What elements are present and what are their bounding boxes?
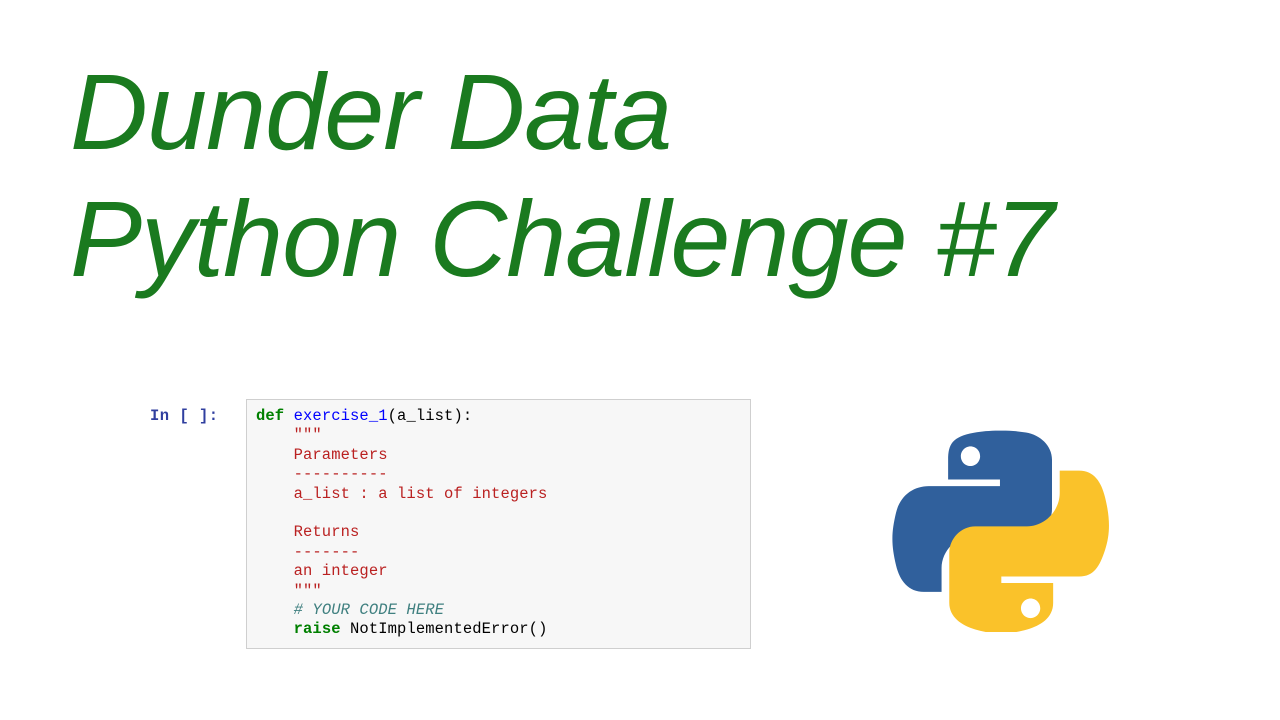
cell-execution-prompt: In [ ]: <box>150 399 246 426</box>
title-line-1: Dunder Data <box>70 48 1210 175</box>
notebook-code-cell[interactable]: In [ ]: def exercise_1(a_list): """ Para… <box>150 399 756 649</box>
title-line-2: Python Challenge #7 <box>70 175 1210 302</box>
code-editor-area[interactable]: def exercise_1(a_list): """ Parameters -… <box>246 399 751 649</box>
code-source[interactable]: def exercise_1(a_list): """ Parameters -… <box>256 407 746 640</box>
page-title: Dunder Data Python Challenge #7 <box>70 48 1210 303</box>
python-logo <box>884 420 1114 632</box>
